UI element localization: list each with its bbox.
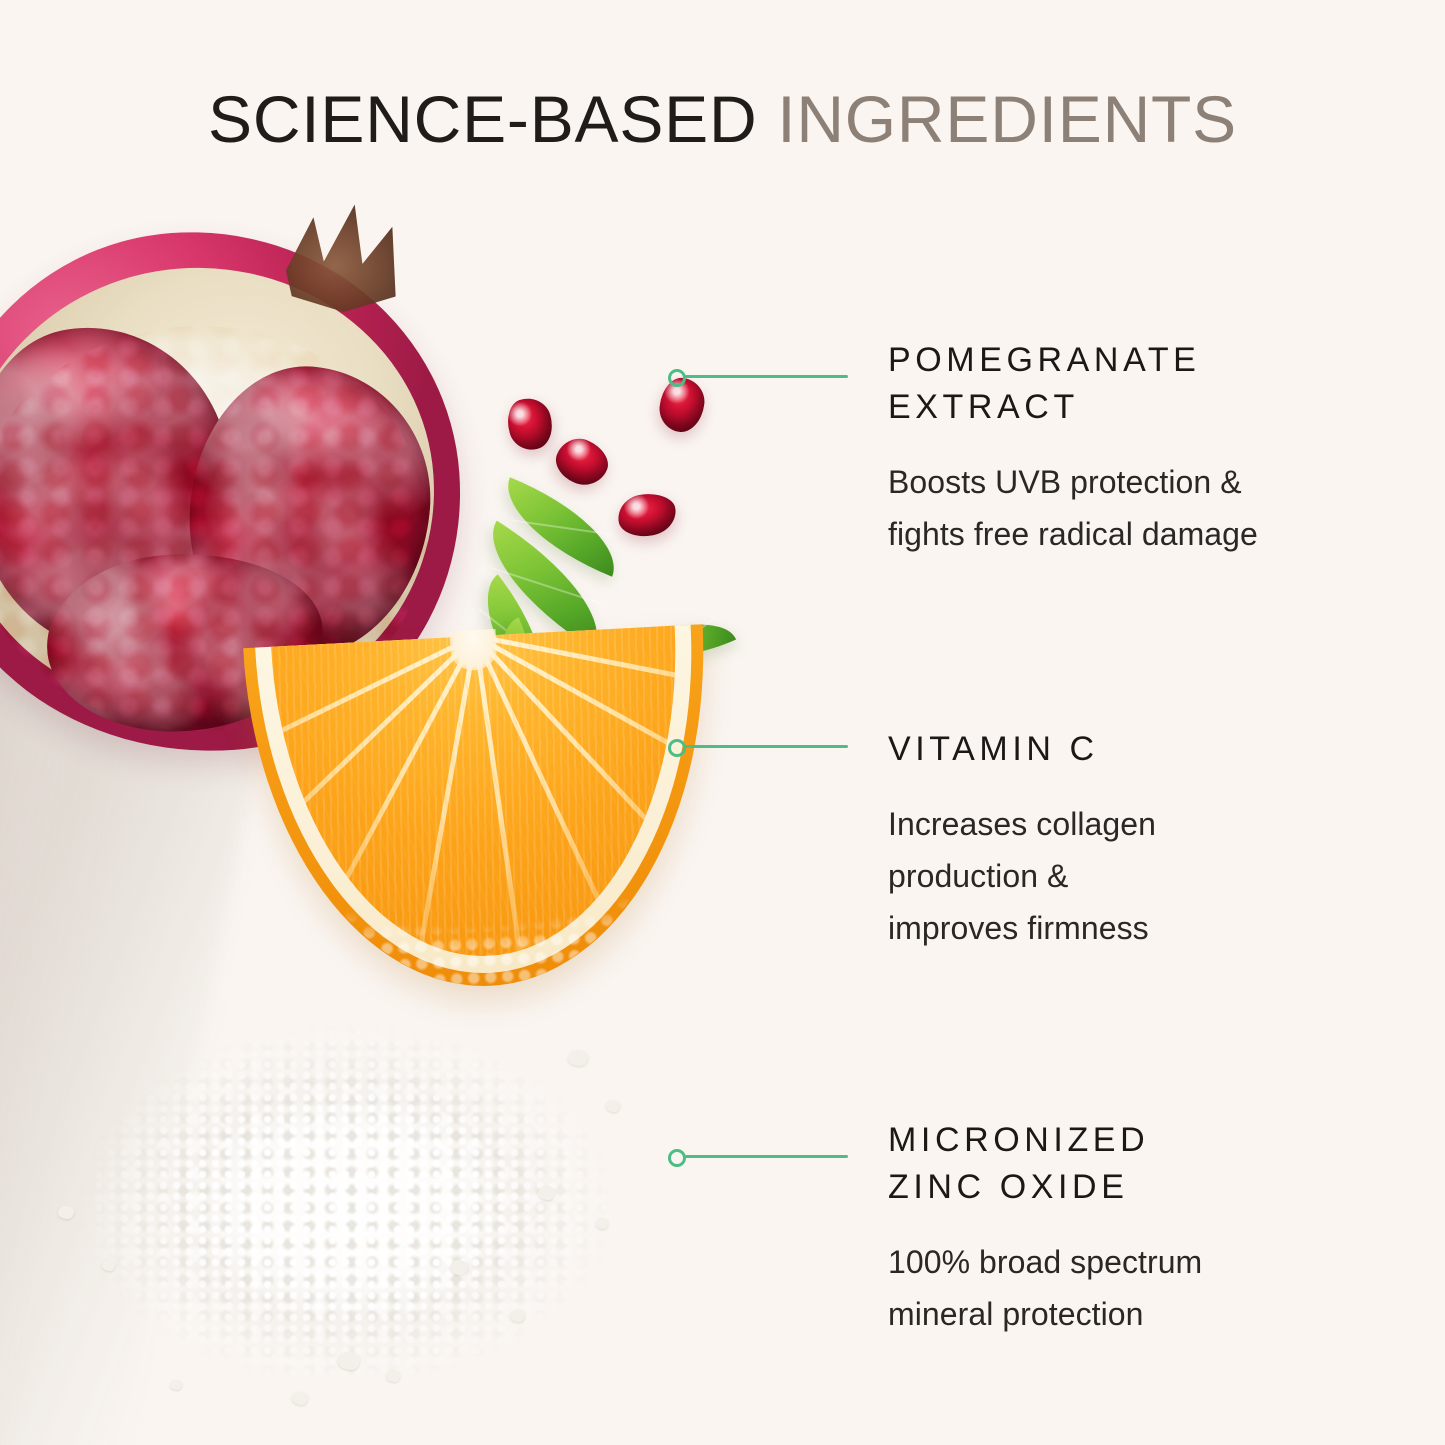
- callout-body-line: Boosts UVB protection &: [888, 464, 1242, 500]
- pomegranate-aril: [656, 375, 707, 435]
- connector-zinc-oxide: [668, 1145, 850, 1171]
- callout-body: 100% broad spectrum mineral protection: [888, 1237, 1408, 1341]
- connector-line: [685, 375, 848, 378]
- callout-heading: VITAMIN C: [888, 726, 1408, 773]
- connector-line: [685, 745, 848, 748]
- page-title-part-two: INGREDIENTS: [777, 82, 1237, 156]
- callout-heading-line: EXTRACT: [888, 388, 1079, 426]
- pomegranate-aril: [549, 431, 614, 492]
- callout-body-line: mineral protection: [888, 1296, 1144, 1332]
- orange-flesh: [271, 626, 691, 967]
- zinc-oxide-powder-image: [40, 960, 680, 1430]
- callout-body-line: improves firmness: [888, 910, 1149, 946]
- callout-body-line: Increases collagen: [888, 806, 1156, 842]
- callout-heading-line: VITAMIN C: [888, 730, 1099, 768]
- callout-zinc-oxide: MICRONIZED ZINC OXIDE 100% broad spectru…: [888, 1117, 1408, 1340]
- powder-grain-texture: [40, 960, 680, 1430]
- callout-heading: POMEGRANATE EXTRACT: [888, 337, 1408, 431]
- callout-body-line: 100% broad spectrum: [888, 1244, 1202, 1280]
- pomegranate-aril: [502, 393, 559, 455]
- pomegranate-aril: [615, 490, 678, 540]
- callout-body-line: production &: [888, 858, 1068, 894]
- callout-vitamin-c: VITAMIN C Increases collagen production …: [888, 726, 1408, 954]
- ingredients-infographic: SCIENCE-BASEDINGREDIENTS: [0, 0, 1445, 1445]
- callout-body-line: fights free radical damage: [888, 516, 1258, 552]
- page-title-part-one: SCIENCE-BASED: [208, 82, 757, 156]
- callout-heading: MICRONIZED ZINC OXIDE: [888, 1117, 1408, 1211]
- callout-heading-line: MICRONIZED: [888, 1121, 1149, 1159]
- connector-line: [685, 1155, 848, 1158]
- callout-pomegranate: POMEGRANATE EXTRACT Boosts UVB protectio…: [888, 337, 1408, 560]
- callout-heading-line: POMEGRANATE: [888, 341, 1200, 379]
- callout-body: Increases collagen production & improves…: [888, 799, 1408, 954]
- page-title: SCIENCE-BASEDINGREDIENTS: [0, 86, 1445, 152]
- orange-slice-image: [243, 624, 721, 998]
- callout-body: Boosts UVB protection & fights free radi…: [888, 457, 1408, 561]
- callout-heading-line: ZINC OXIDE: [888, 1168, 1128, 1206]
